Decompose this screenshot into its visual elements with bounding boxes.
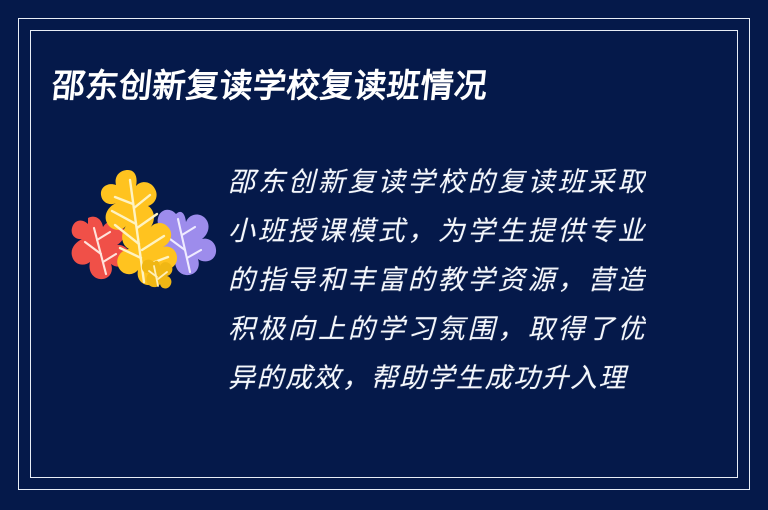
body-paragraph: 邵东创新复读学校的复读班采取小班授课模式，为学生提供专业的指导和丰富的教学资源，…	[228, 158, 646, 398]
autumn-leaves-illustration	[58, 162, 218, 290]
poster-canvas: 邵东创新复读学校复读班情况	[0, 0, 768, 510]
page-title: 邵东创新复读学校复读班情况	[49, 64, 714, 112]
